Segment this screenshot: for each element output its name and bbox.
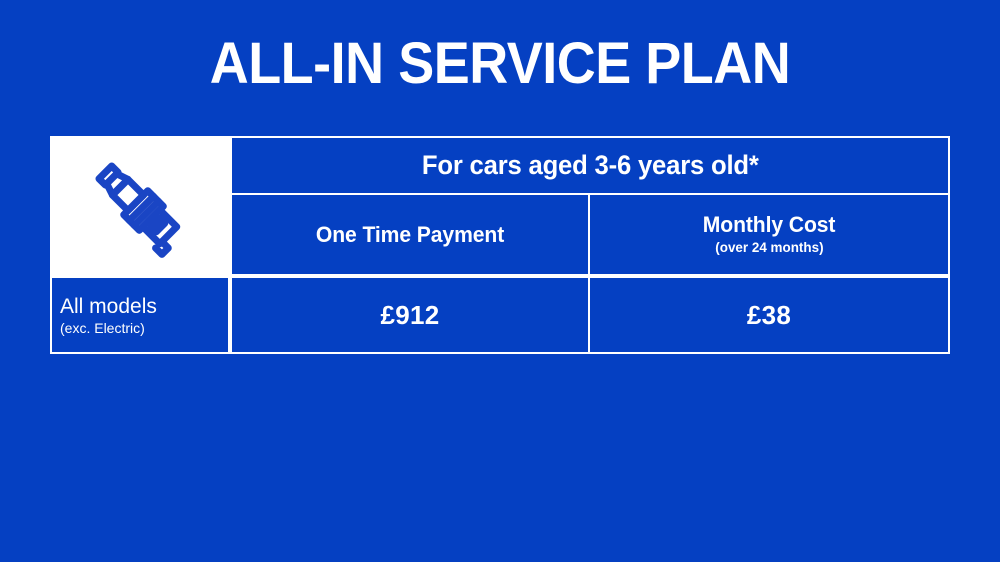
- row-label-cell-all-models: All models (exc. Electric): [52, 276, 230, 352]
- monthly-cost-price: £38: [747, 300, 791, 331]
- one-time-payment-price: £912: [380, 300, 439, 331]
- column-header-one-time-payment: One Time Payment: [230, 195, 590, 276]
- row-label-all-models: All models: [60, 294, 157, 319]
- column-header-one-time-payment-label: One Time Payment: [316, 222, 504, 248]
- column-header-monthly-cost-label: Monthly Cost: [703, 212, 836, 238]
- service-plan-table: For cars aged 3-6 years old* One Time Pa…: [50, 136, 950, 354]
- age-range-banner-label: For cars aged 3-6 years old*: [422, 150, 759, 181]
- cell-one-time-payment-value: £912: [230, 276, 590, 352]
- age-range-banner-cell: For cars aged 3-6 years old*: [230, 138, 948, 195]
- row-sublabel-exc-electric: (exc. Electric): [60, 319, 145, 337]
- column-header-monthly-cost: Monthly Cost (over 24 months): [590, 195, 948, 276]
- spark-plug-icon-cell: [52, 138, 230, 276]
- column-header-monthly-cost-sublabel: (over 24 months): [715, 238, 823, 257]
- cell-monthly-cost-value: £38: [590, 276, 948, 352]
- spark-plug-icon: [81, 148, 199, 266]
- service-plan-graphic: ALL-IN SERVICE PLAN: [0, 0, 1000, 562]
- page-title: ALL-IN SERVICE PLAN: [35, 30, 965, 98]
